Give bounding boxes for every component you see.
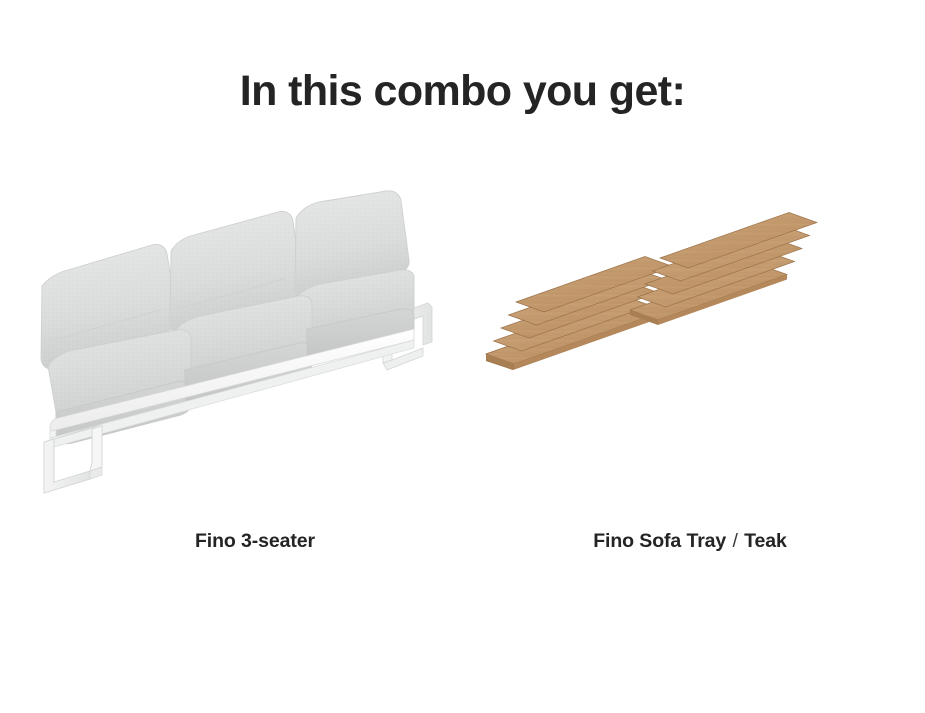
tray-caption-main: Fino Sofa Tray: [593, 530, 726, 552]
tray-caption-variant: Teak: [744, 530, 787, 552]
tray-panel-right: [630, 213, 817, 326]
tray-caption-separator: /: [732, 530, 739, 552]
page-title: In this combo you get:: [0, 67, 925, 116]
product-combo-page: In this combo you get:: [0, 0, 925, 713]
product-caption-sofa: Fino 3-seater: [30, 530, 480, 553]
product-list: Fino 3-seater: [0, 190, 925, 590]
product-item-sofa[interactable]: Fino 3-seater: [30, 190, 480, 590]
fino-sofa-tray-image: [480, 190, 900, 490]
fino-3-seater-image: [30, 190, 480, 490]
product-item-tray[interactable]: Fino Sofa Tray / Teak: [480, 190, 900, 590]
product-caption-tray: Fino Sofa Tray / Teak: [480, 530, 900, 553]
